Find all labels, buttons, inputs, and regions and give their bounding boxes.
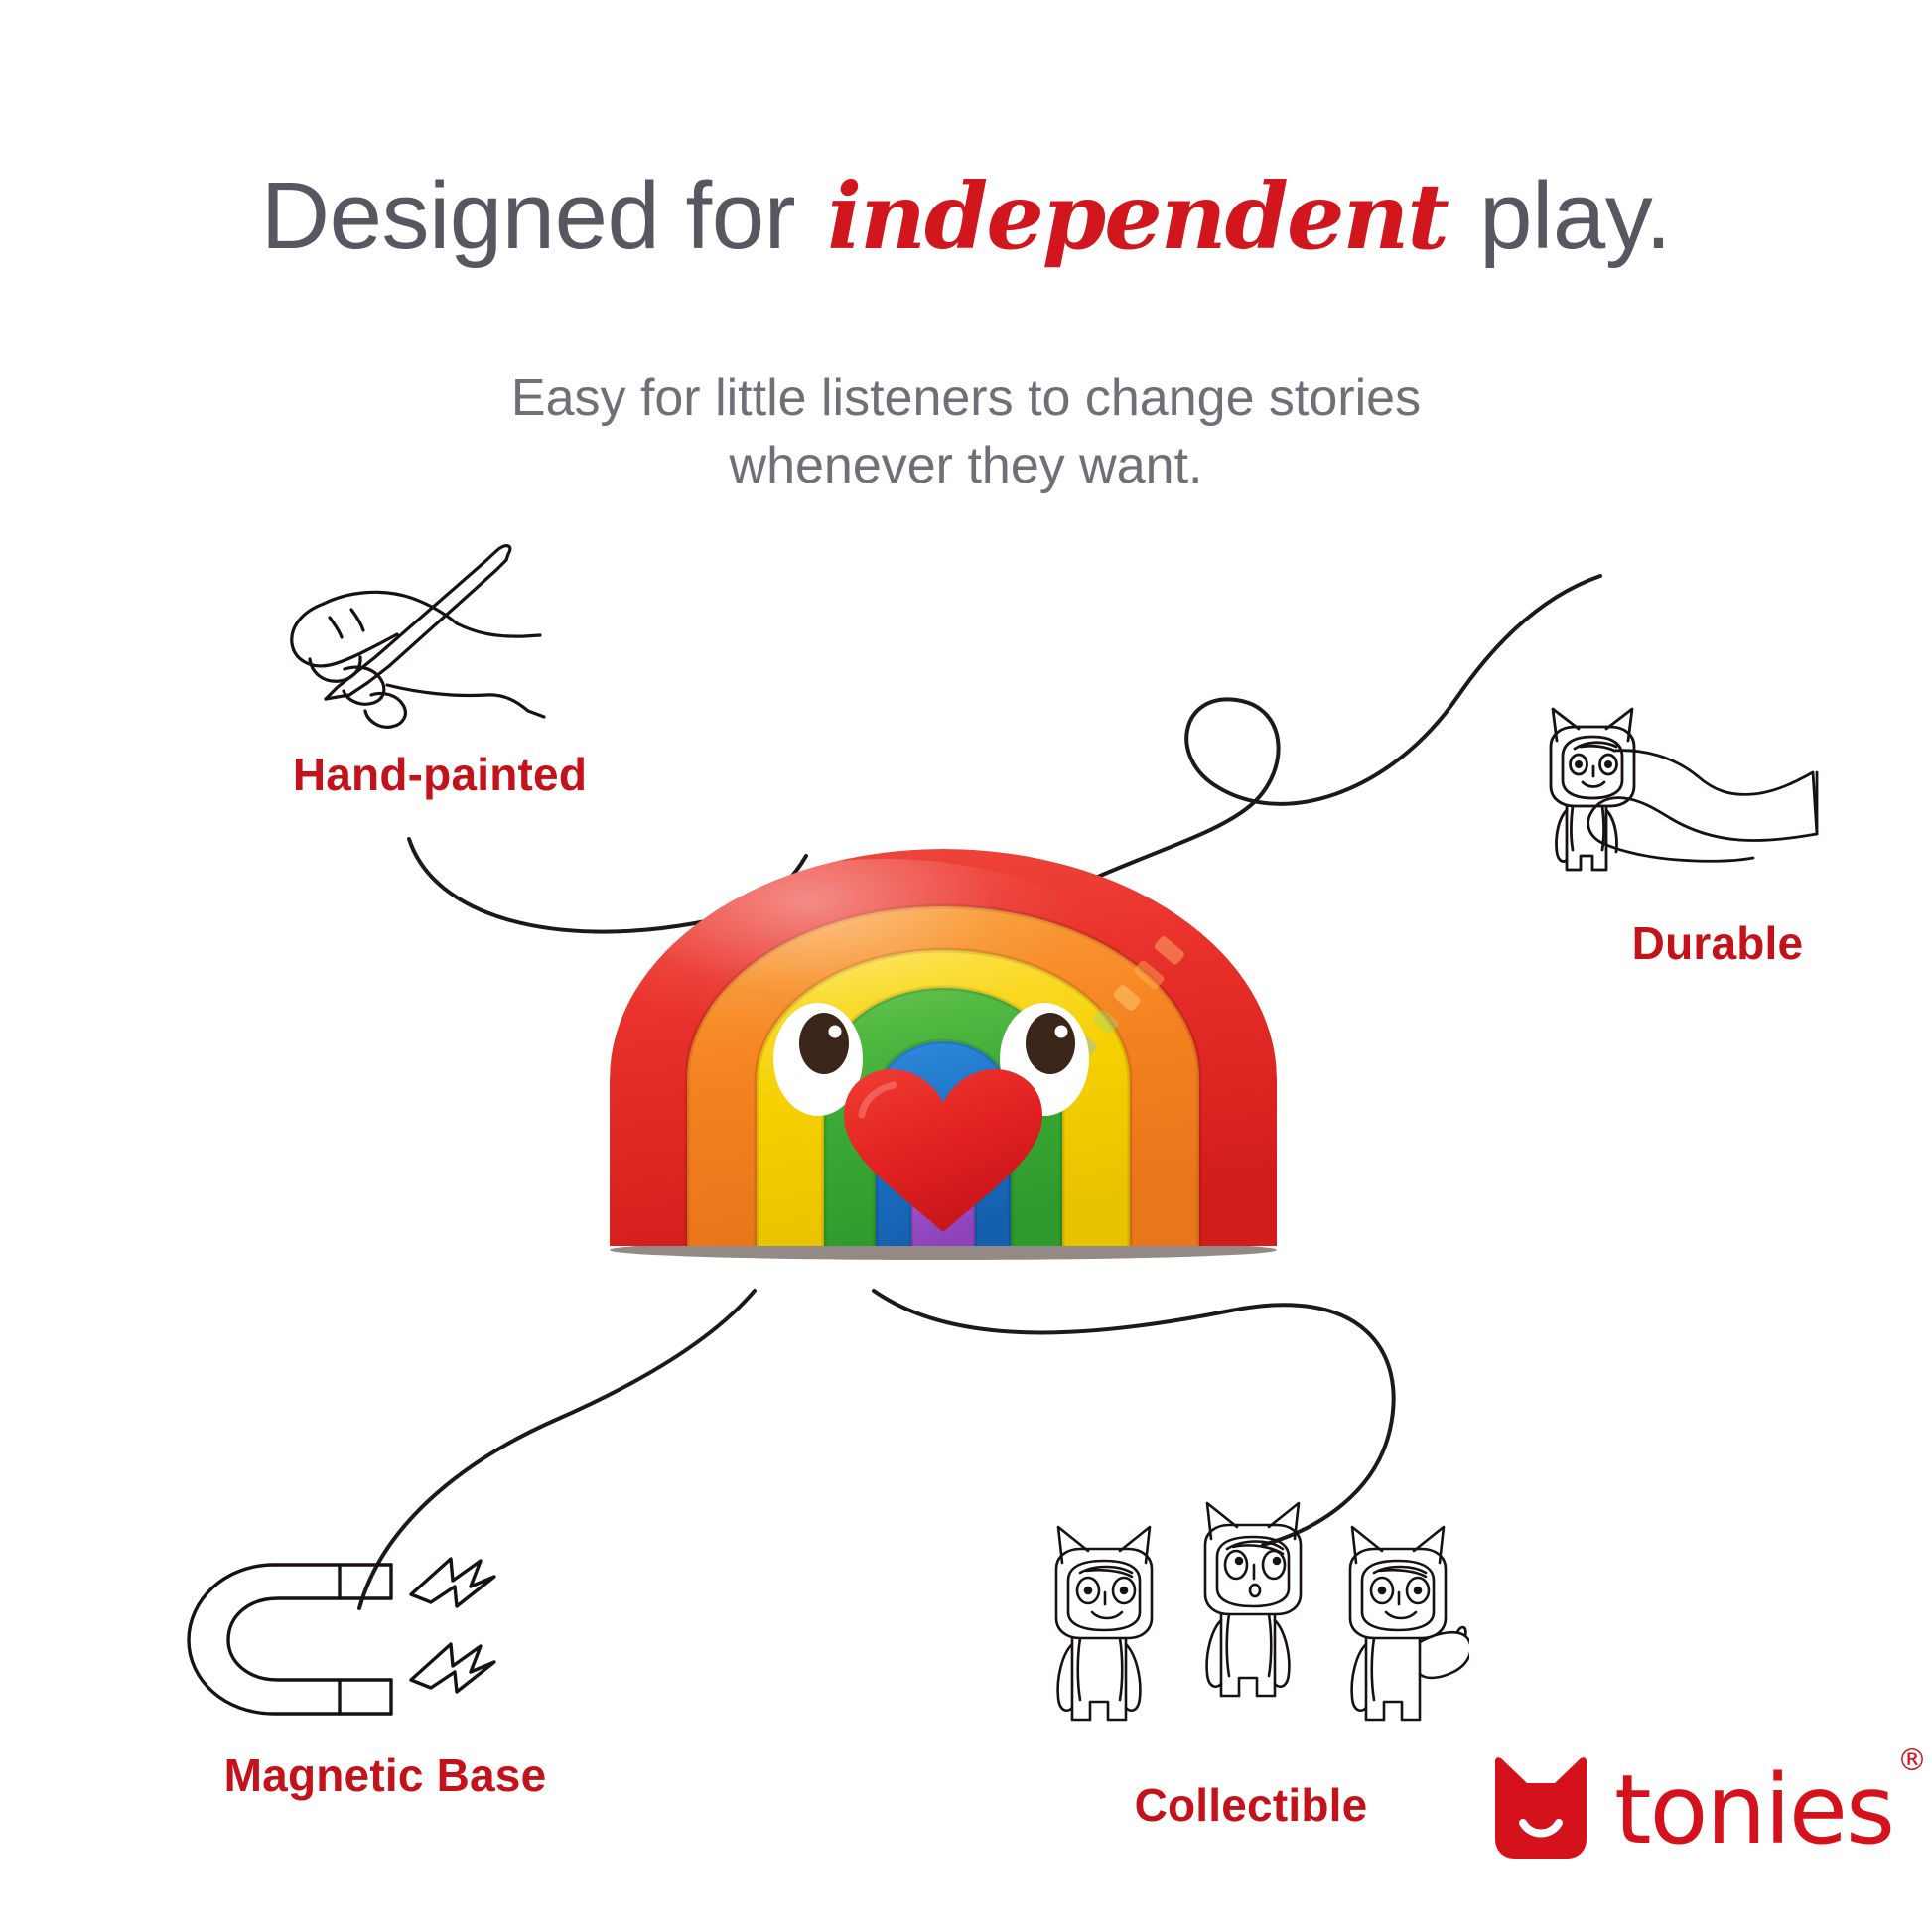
page-title: Designed for independent play.	[0, 167, 1932, 267]
pupil-left	[799, 1013, 849, 1074]
feature-label-collectible: Collectible	[1033, 1778, 1469, 1832]
feature-hand-painted: Hand-painted	[207, 488, 673, 801]
three-tonie-figures-icon	[1033, 1499, 1469, 1772]
headline-part1: Designed for	[261, 163, 795, 269]
feature-collectible: Collectible	[1033, 1499, 1469, 1832]
feature-durable: Durable	[1519, 695, 1916, 970]
feature-label-hand-painted: Hand-painted	[207, 748, 673, 801]
tonies-wordmark: tonies®	[1614, 1762, 1893, 1858]
headline-accent-word: independent	[821, 163, 1453, 270]
feature-label-durable: Durable	[1519, 916, 1916, 970]
hand-with-paintbrush-icon	[207, 488, 673, 742]
feature-label-magnetic-base: Magnetic Base	[167, 1748, 604, 1802]
feature-magnetic-base: Magnetic Base	[167, 1549, 604, 1802]
registered-trademark-symbol: ®	[1897, 1746, 1927, 1776]
infographic-canvas: Designed for independent play. Easy for …	[0, 0, 1932, 1932]
headline-part2: play.	[1479, 163, 1671, 269]
eye-highlight-left	[829, 1026, 842, 1038]
page-subtitle: Easy for little listeners to change stor…	[0, 365, 1932, 499]
tonies-logo[interactable]: tonies®	[1489, 1755, 1893, 1864]
hand-holding-tonie-figure-icon	[1519, 695, 1916, 898]
eye-highlight-right	[1055, 1026, 1068, 1038]
rainbow-tonie-box	[596, 849, 1291, 1315]
tonies-wordmark-text: tonies	[1614, 1754, 1893, 1865]
subtitle-line-1: Easy for little listeners to change stor…	[511, 369, 1421, 427]
pupil-right	[1026, 1013, 1075, 1074]
horseshoe-magnet-icon	[167, 1549, 604, 1732]
tonies-cat-head-icon	[1489, 1755, 1592, 1864]
